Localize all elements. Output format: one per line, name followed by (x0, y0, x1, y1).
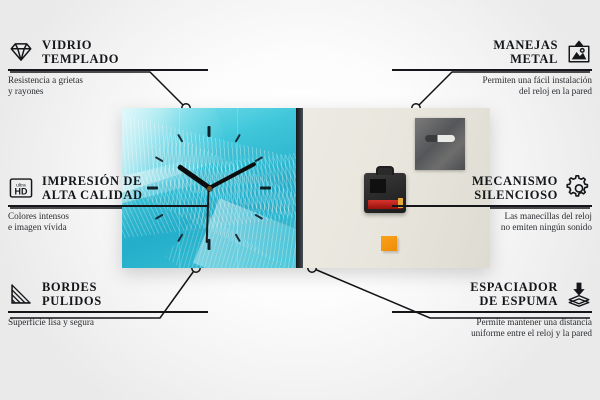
feature-desc-line1: Resistencia a grietas (8, 75, 208, 86)
feature-desc-line2: uniforme entre el reloj y la pared (392, 328, 592, 339)
feature-rule (392, 205, 592, 207)
beveled-edge-icon (8, 281, 34, 307)
feature-desc-line2: del reloj en la pared (392, 86, 592, 97)
feature-title-line1: VIDRIO (42, 38, 92, 52)
feature-desc-line1: Permiten una fácil instalación (392, 75, 592, 86)
foam-spacer (381, 236, 397, 251)
feature-desc-line1: Superficie lisa y segura (8, 317, 208, 328)
feature-callout-bordes-pulidos: BORDES PULIDOS Superficie lisa y segura (8, 280, 208, 328)
foam-spacer-icon (566, 281, 592, 307)
feature-callout-manejas-metal: MANEJAS METAL Permiten una fácil instala… (392, 38, 592, 97)
feature-desc-line1: Permite mantener una distancia (392, 317, 592, 328)
feature-desc-line2: y rayones (8, 86, 208, 97)
feature-title-line1: IMPRESIÓN DE (42, 174, 142, 188)
feature-title-line1: BORDES (42, 280, 97, 294)
clock-side-bezel (296, 108, 303, 268)
infographic-canvas: VIDRIO TEMPLADO Resistencia a grietas y … (0, 0, 600, 400)
hanger-slot (425, 135, 455, 142)
feature-callout-espaciador-espuma: ESPACIADOR DE ESPUMA Permite mantener un… (392, 280, 592, 339)
diamond-icon (8, 39, 34, 65)
feature-rule (392, 69, 592, 71)
clock-minute-hand (208, 162, 256, 190)
feature-desc-line2: no emiten ningún sonido (392, 222, 592, 233)
hanging-frame-icon (566, 39, 592, 65)
feature-title-line2: ALTA CALIDAD (42, 188, 208, 202)
feature-rule (8, 311, 208, 313)
feature-rule (8, 205, 208, 207)
gear-icon (566, 175, 592, 201)
feature-title-line1: MANEJAS (493, 38, 558, 52)
svg-text:HD: HD (15, 187, 28, 197)
feature-rule (8, 69, 208, 71)
feature-callout-vidrio-templado: VIDRIO TEMPLADO Resistencia a grietas y … (8, 38, 208, 97)
feature-title-line2: TEMPLADO (42, 52, 208, 66)
feature-title-line2: PULIDOS (42, 294, 208, 308)
feature-desc-line1: Las manecillas del reloj (392, 211, 592, 222)
feature-callout-impresion-alta-calidad: ultra HD IMPRESIÓN DE ALTA CALIDAD Color… (8, 174, 208, 233)
feature-title-line1: MECANISMO (472, 174, 558, 188)
feature-desc-line1: Colores intensos (8, 211, 208, 222)
feature-callout-mecanismo-silencioso: MECANISMO SILENCIOSO Las manecillas del … (392, 174, 592, 233)
ultra-hd-icon: ultra HD (8, 175, 34, 201)
movement-slot (370, 179, 386, 193)
feature-title-line1: ESPACIADOR (470, 280, 558, 294)
feature-title-line2: METAL (392, 52, 558, 66)
metal-hanger-plate (415, 118, 465, 170)
feature-title-line2: DE ESPUMA (392, 294, 558, 308)
feature-rule (392, 311, 592, 313)
feature-title-line2: SILENCIOSO (392, 188, 558, 202)
feature-desc-line2: e imagen vívida (8, 222, 208, 233)
